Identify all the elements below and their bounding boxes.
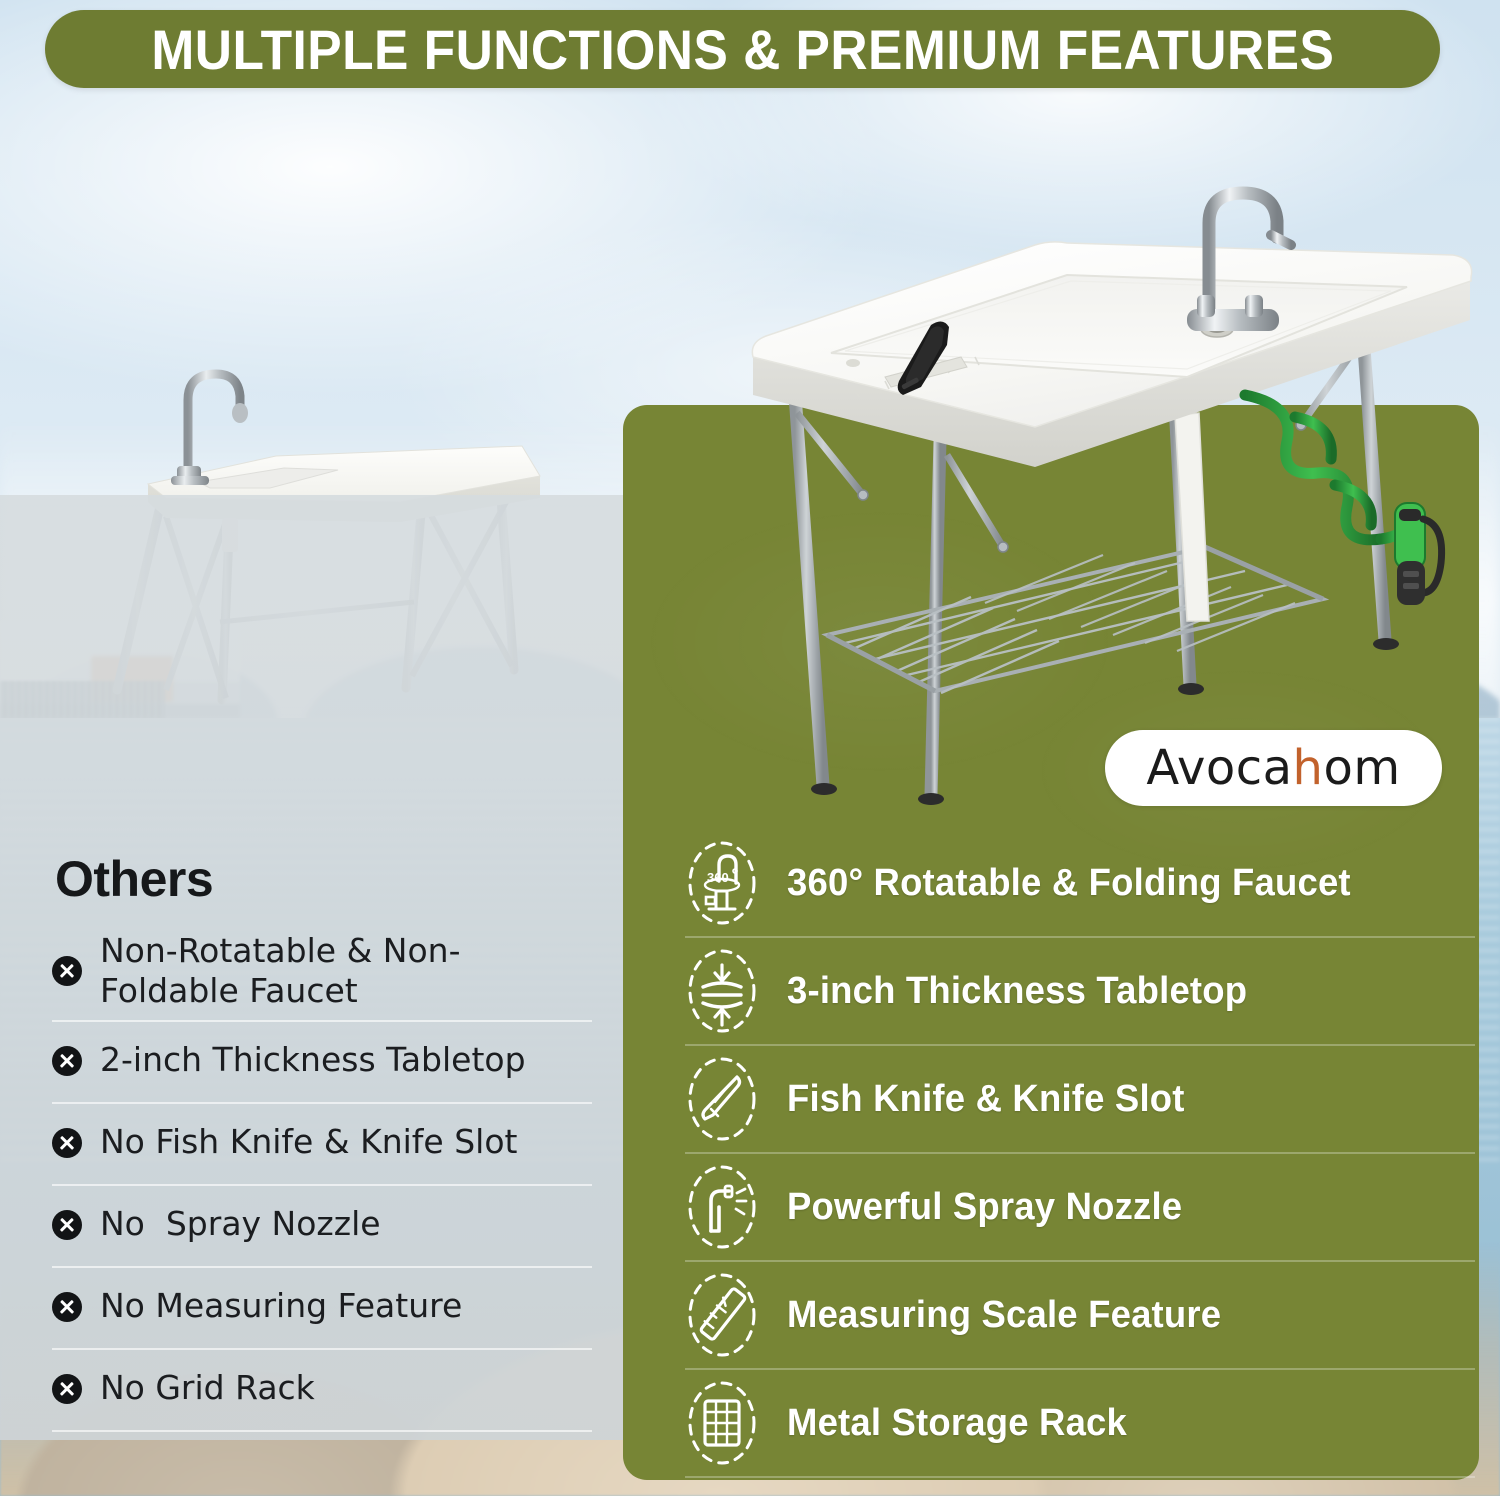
spray-nozzle xyxy=(1395,503,1442,605)
others-feature-list: Non-Rotatable & Non-Foldable Faucet 2-in… xyxy=(52,925,592,1432)
title-banner: MULTIPLE FUNCTIONS & PREMIUM FEATURES xyxy=(45,10,1440,88)
others-item-label: 2-inch Thickness Tabletop xyxy=(100,1040,526,1080)
feature-label: Powerful Spray Nozzle xyxy=(787,1186,1182,1229)
others-item-label: No Grid Rack xyxy=(100,1368,315,1408)
x-circle-icon xyxy=(52,1046,82,1076)
x-circle-icon xyxy=(52,956,82,986)
others-list-item: Non-Rotatable & Non-Foldable Faucet xyxy=(52,925,592,1022)
feature-label: Metal Storage Rack xyxy=(787,1402,1127,1445)
feature-label: Measuring Scale Feature xyxy=(787,1294,1221,1337)
brand-prefix: Avoca xyxy=(1146,740,1292,796)
others-list-item: 2-inch Thickness Tabletop xyxy=(52,1022,592,1104)
feature-row: 3-inch Thickness Tabletop xyxy=(685,938,1475,1046)
knife-icon xyxy=(685,1055,759,1143)
brand-logo-badge: Avocahom xyxy=(1105,730,1442,806)
x-circle-icon xyxy=(52,1210,82,1240)
featured-product-image xyxy=(735,95,1480,825)
others-item-label: No Spray Nozzle xyxy=(100,1204,381,1244)
banner-title: MULTIPLE FUNCTIONS & PREMIUM FEATURES xyxy=(151,17,1334,82)
feature-row: Measuring Scale Feature xyxy=(685,1262,1475,1370)
faucet-360-icon: 360 xyxy=(685,839,759,927)
others-panel: Others Non-Rotatable & Non-Foldable Fauc… xyxy=(0,495,624,1440)
feature-row: Fish Knife & Knife Slot xyxy=(685,1046,1475,1154)
premium-feature-list: 360 360° Rotatable & Folding Faucet xyxy=(685,830,1475,1478)
spray-hose xyxy=(1245,395,1417,540)
feature-label: 360° Rotatable & Folding Faucet xyxy=(787,862,1351,905)
x-circle-icon xyxy=(52,1292,82,1322)
ruler-icon xyxy=(685,1271,759,1359)
feature-row: Metal Storage Rack xyxy=(685,1370,1475,1478)
others-list-item: No Grid Rack xyxy=(52,1350,592,1432)
spray-nozzle-icon xyxy=(685,1163,759,1251)
others-heading: Others xyxy=(55,850,213,908)
brand-suffix: om xyxy=(1323,740,1400,796)
others-item-label: No Fish Knife & Knife Slot xyxy=(100,1122,517,1162)
others-list-item: No Spray Nozzle xyxy=(52,1186,592,1268)
x-circle-icon xyxy=(52,1128,82,1158)
svg-text:360: 360 xyxy=(707,870,729,885)
brand-logo-text: Avocahom xyxy=(1146,740,1400,796)
others-list-item: No Fish Knife & Knife Slot xyxy=(52,1104,592,1186)
metal-storage-rack xyxy=(827,547,1323,693)
grid-rack-icon xyxy=(685,1379,759,1467)
feature-label: Fish Knife & Knife Slot xyxy=(787,1078,1185,1121)
feature-row: 360 360° Rotatable & Folding Faucet xyxy=(685,830,1475,938)
brand-accent-letter: h xyxy=(1293,740,1324,796)
feature-label: 3-inch Thickness Tabletop xyxy=(787,970,1247,1013)
x-circle-icon xyxy=(52,1374,82,1404)
feature-row: Powerful Spray Nozzle xyxy=(685,1154,1475,1262)
thickness-arrows-icon xyxy=(685,947,759,1035)
avocahom-table-svg xyxy=(735,95,1480,825)
others-list-item: No Measuring Feature xyxy=(52,1268,592,1350)
infographic-canvas: Others Non-Rotatable & Non-Foldable Fauc… xyxy=(0,0,1500,1496)
others-item-label: No Measuring Feature xyxy=(100,1286,462,1326)
others-item-label: Non-Rotatable & Non-Foldable Faucet xyxy=(100,931,592,1012)
